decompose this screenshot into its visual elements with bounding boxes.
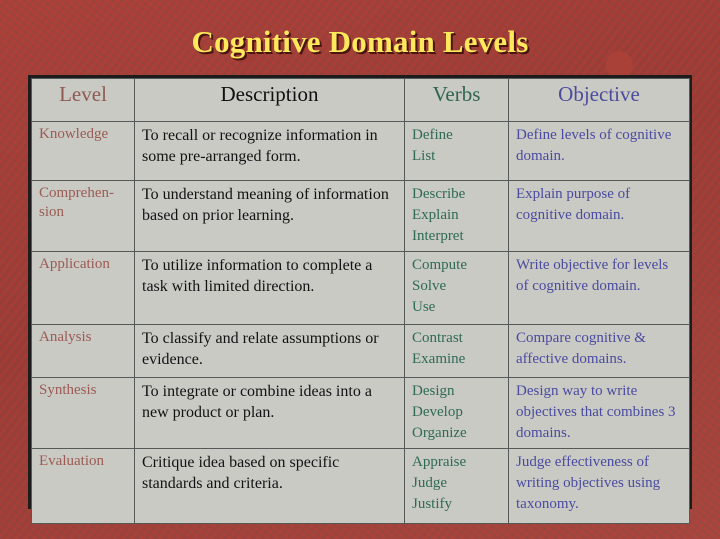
verb-item: Organize [412, 423, 501, 444]
cell-verbs: DesignDevelopOrganize [405, 378, 509, 449]
cell-verbs: ComputeSolveUse [405, 252, 509, 325]
cell-objective: Judge effectiveness of writing objective… [509, 449, 690, 524]
cognitive-domain-table-container: Level Description Verbs Objective Knowle… [28, 75, 692, 509]
verb-item: Appraise [412, 452, 501, 473]
table-header: Level Description Verbs Objective [32, 79, 690, 122]
column-header-verbs: Verbs [405, 79, 509, 122]
cell-description: To understand meaning of information bas… [135, 181, 405, 252]
cognitive-domain-table: Level Description Verbs Objective Knowle… [31, 78, 690, 524]
cell-objective: Define levels of cognitive domain. [509, 122, 690, 181]
cell-verbs: DefineList [405, 122, 509, 181]
verb-item: Explain [412, 205, 501, 226]
cell-description: Critique idea based on specific standard… [135, 449, 405, 524]
cell-objective: Design way to write objectives that comb… [509, 378, 690, 449]
slide-canvas: Cognitive Domain Levels Level Descriptio… [0, 0, 720, 539]
cell-verbs: ContrastExamine [405, 325, 509, 378]
verb-item: Design [412, 381, 501, 402]
verb-item: Contrast [412, 328, 501, 349]
verb-item: Judge [412, 473, 501, 494]
verb-item: Develop [412, 402, 501, 423]
cell-description: To classify and relate assumptions or ev… [135, 325, 405, 378]
table-row: Comprehen-sionTo understand meaning of i… [32, 181, 690, 252]
cell-verbs: AppraiseJudgeJustify [405, 449, 509, 524]
verb-item: List [412, 146, 501, 167]
verb-item: Solve [412, 276, 501, 297]
cell-verbs: DescribeExplainInterpret [405, 181, 509, 252]
table-row: AnalysisTo classify and relate assumptio… [32, 325, 690, 378]
table-row: SynthesisTo integrate or combine ideas i… [32, 378, 690, 449]
cell-description: To integrate or combine ideas into a new… [135, 378, 405, 449]
verb-item: Interpret [412, 226, 501, 247]
verb-item: Use [412, 297, 501, 318]
verb-item: Define [412, 125, 501, 146]
verb-item: Examine [412, 349, 501, 370]
cell-level: Analysis [32, 325, 135, 378]
verb-item: Describe [412, 184, 501, 205]
column-header-objective: Objective [509, 79, 690, 122]
verb-item: Justify [412, 494, 501, 515]
table-row: EvaluationCritique idea based on specifi… [32, 449, 690, 524]
table-row: ApplicationTo utilize information to com… [32, 252, 690, 325]
table-row: KnowledgeTo recall or recognize informat… [32, 122, 690, 181]
cell-level: Knowledge [32, 122, 135, 181]
page-title: Cognitive Domain Levels [0, 24, 720, 60]
column-header-level: Level [32, 79, 135, 122]
table-body: KnowledgeTo recall or recognize informat… [32, 122, 690, 524]
cell-level: Comprehen-sion [32, 181, 135, 252]
cell-objective: Explain purpose of cognitive domain. [509, 181, 690, 252]
cell-objective: Write objective for levels of cognitive … [509, 252, 690, 325]
cell-level: Evaluation [32, 449, 135, 524]
cell-description: To utilize information to complete a tas… [135, 252, 405, 325]
table-header-row: Level Description Verbs Objective [32, 79, 690, 122]
cell-objective: Compare cognitive & affective domains. [509, 325, 690, 378]
cell-level: Application [32, 252, 135, 325]
cell-description: To recall or recognize information in so… [135, 122, 405, 181]
column-header-description: Description [135, 79, 405, 122]
cell-level: Synthesis [32, 378, 135, 449]
verb-item: Compute [412, 255, 501, 276]
